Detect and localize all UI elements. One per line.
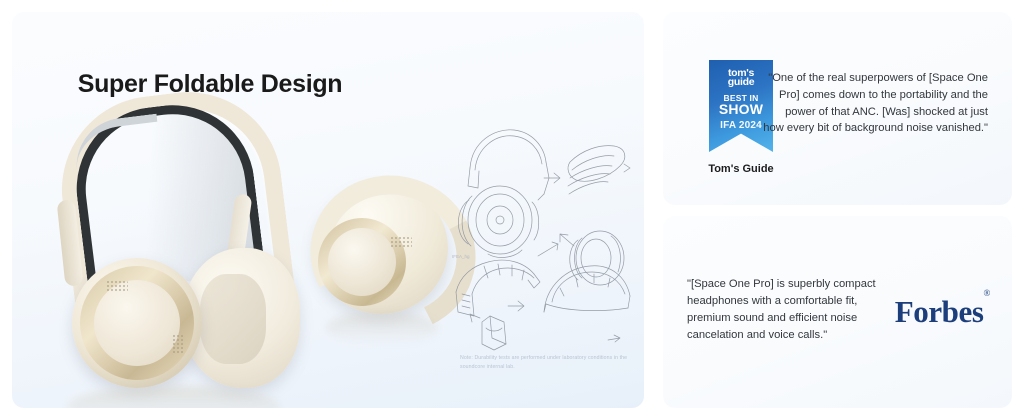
durability-note: Note: Durability tests are performed und… [460, 354, 640, 372]
toms-guide-quote: "One of the real superpowers of [Space O… [763, 70, 988, 137]
mic-grill-secondary-icon [172, 334, 184, 354]
product-photo-folded [304, 174, 456, 354]
mic-grill-icon [106, 280, 128, 293]
earcup-right-pad [200, 274, 266, 364]
earcup-left-face [94, 280, 180, 366]
toms-guide-caption: Tom's Guide [696, 163, 786, 175]
forbes-logo: Forbes® [895, 294, 990, 330]
foldable-design-panel: Super Foldable Design [12, 12, 644, 408]
folded-mic-grill-icon [390, 236, 412, 249]
svg-text:IFEA_hg: IFEA_hg [452, 254, 470, 259]
review-card-toms-guide: tom's guide BEST IN SHOW IFA 2024 Tom's … [663, 12, 1012, 205]
product-reflection [68, 386, 280, 408]
product-photo-headphones [34, 90, 306, 352]
earcup-left [72, 258, 202, 388]
design-sketches: IFEA_hg [448, 116, 638, 352]
folded-reflection [326, 312, 438, 344]
forbes-registered-mark: ® [984, 288, 990, 298]
folded-earcup [318, 218, 406, 306]
earcup-left-ring [80, 266, 194, 380]
forbes-quote: "[Space One Pro] is superbly compact hea… [687, 276, 882, 344]
page-root: Super Foldable Design [0, 0, 1024, 420]
folded-earcup-face [328, 228, 396, 296]
review-card-forbes: "[Space One Pro] is superbly compact hea… [663, 216, 1012, 408]
forbes-logo-text: Forbes [895, 294, 984, 329]
